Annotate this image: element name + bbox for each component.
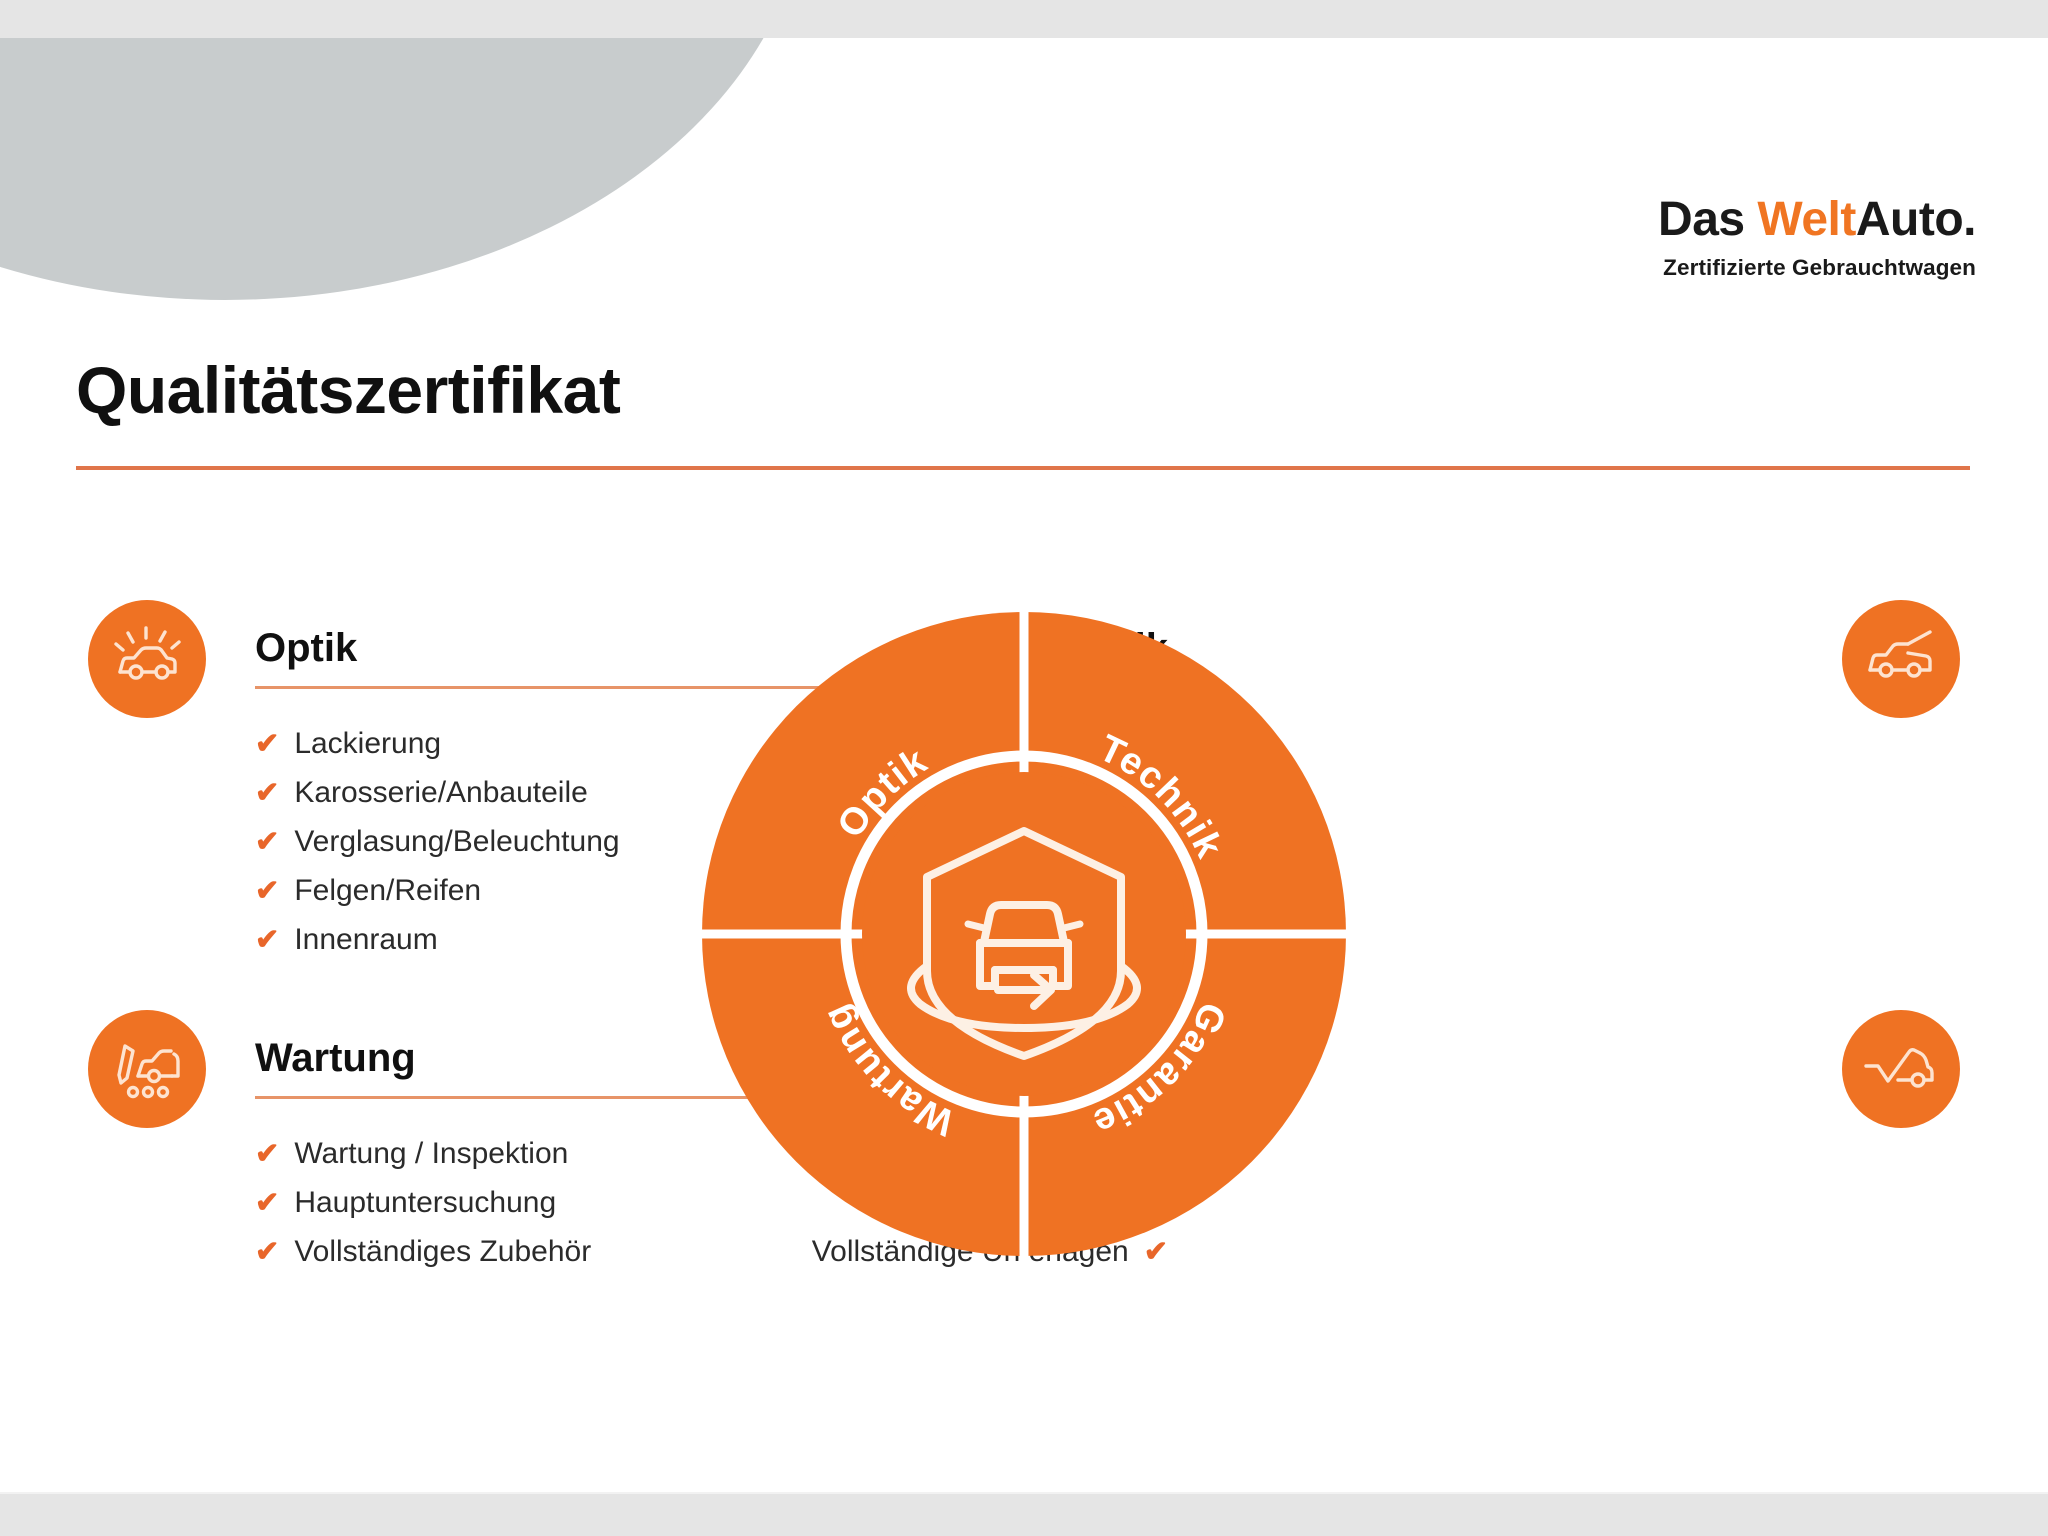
letterbox-top — [0, 0, 2048, 38]
decorative-gray-circle — [0, 0, 810, 300]
car-check-icon — [1842, 1010, 1960, 1128]
car-shine-icon — [88, 600, 206, 718]
list-item-label: Felgen/Reifen — [294, 876, 481, 906]
check-icon: ✔ — [255, 828, 279, 857]
page-title: Qualitätszertifikat — [76, 352, 620, 428]
list-item-label: Verglasung/Beleuchtung — [294, 827, 619, 857]
check-icon: ✔ — [255, 877, 279, 906]
list-item-label: Lackierung — [294, 729, 441, 759]
check-icon: ✔ — [255, 1238, 279, 1267]
list-item-label: Innenraum — [294, 925, 437, 955]
check-icon: ✔ — [255, 779, 279, 808]
logo-wordmark: Das WeltAuto. — [1658, 196, 1976, 244]
quality-wheel-diagram: Optik Technik Garantie Wartung — [684, 594, 1364, 1274]
check-icon: ✔ — [255, 926, 279, 955]
wheel-inner-disc — [862, 772, 1186, 1096]
check-icon: ✔ — [255, 1189, 279, 1218]
letterbox-bottom — [0, 1492, 2048, 1536]
title-divider — [76, 466, 1970, 470]
list-item-label: Wartung / Inspektion — [294, 1139, 568, 1169]
car-open-hood-icon — [1842, 600, 1960, 718]
logo-word-auto: Auto. — [1856, 193, 1976, 246]
check-icon: ✔ — [255, 730, 279, 759]
certificate-page: Das WeltAuto. Zertifizierte Gebrauchtwag… — [0, 0, 2048, 1536]
list-item-label: Hauptuntersuchung — [294, 1188, 556, 1218]
check-icon: ✔ — [255, 1140, 279, 1169]
list-item-label: Vollständiges Zubehör — [294, 1237, 591, 1267]
logo-word-welt: Welt — [1757, 193, 1855, 246]
logo-word-das: Das — [1658, 193, 1757, 246]
list-item-label: Karosserie/Anbauteile — [294, 778, 588, 808]
das-weltauto-logo: Das WeltAuto. Zertifizierte Gebrauchtwag… — [1658, 196, 1976, 281]
logo-tagline: Zertifizierte Gebrauchtwagen — [1658, 255, 1976, 281]
car-pen-checklist-icon — [88, 1010, 206, 1128]
